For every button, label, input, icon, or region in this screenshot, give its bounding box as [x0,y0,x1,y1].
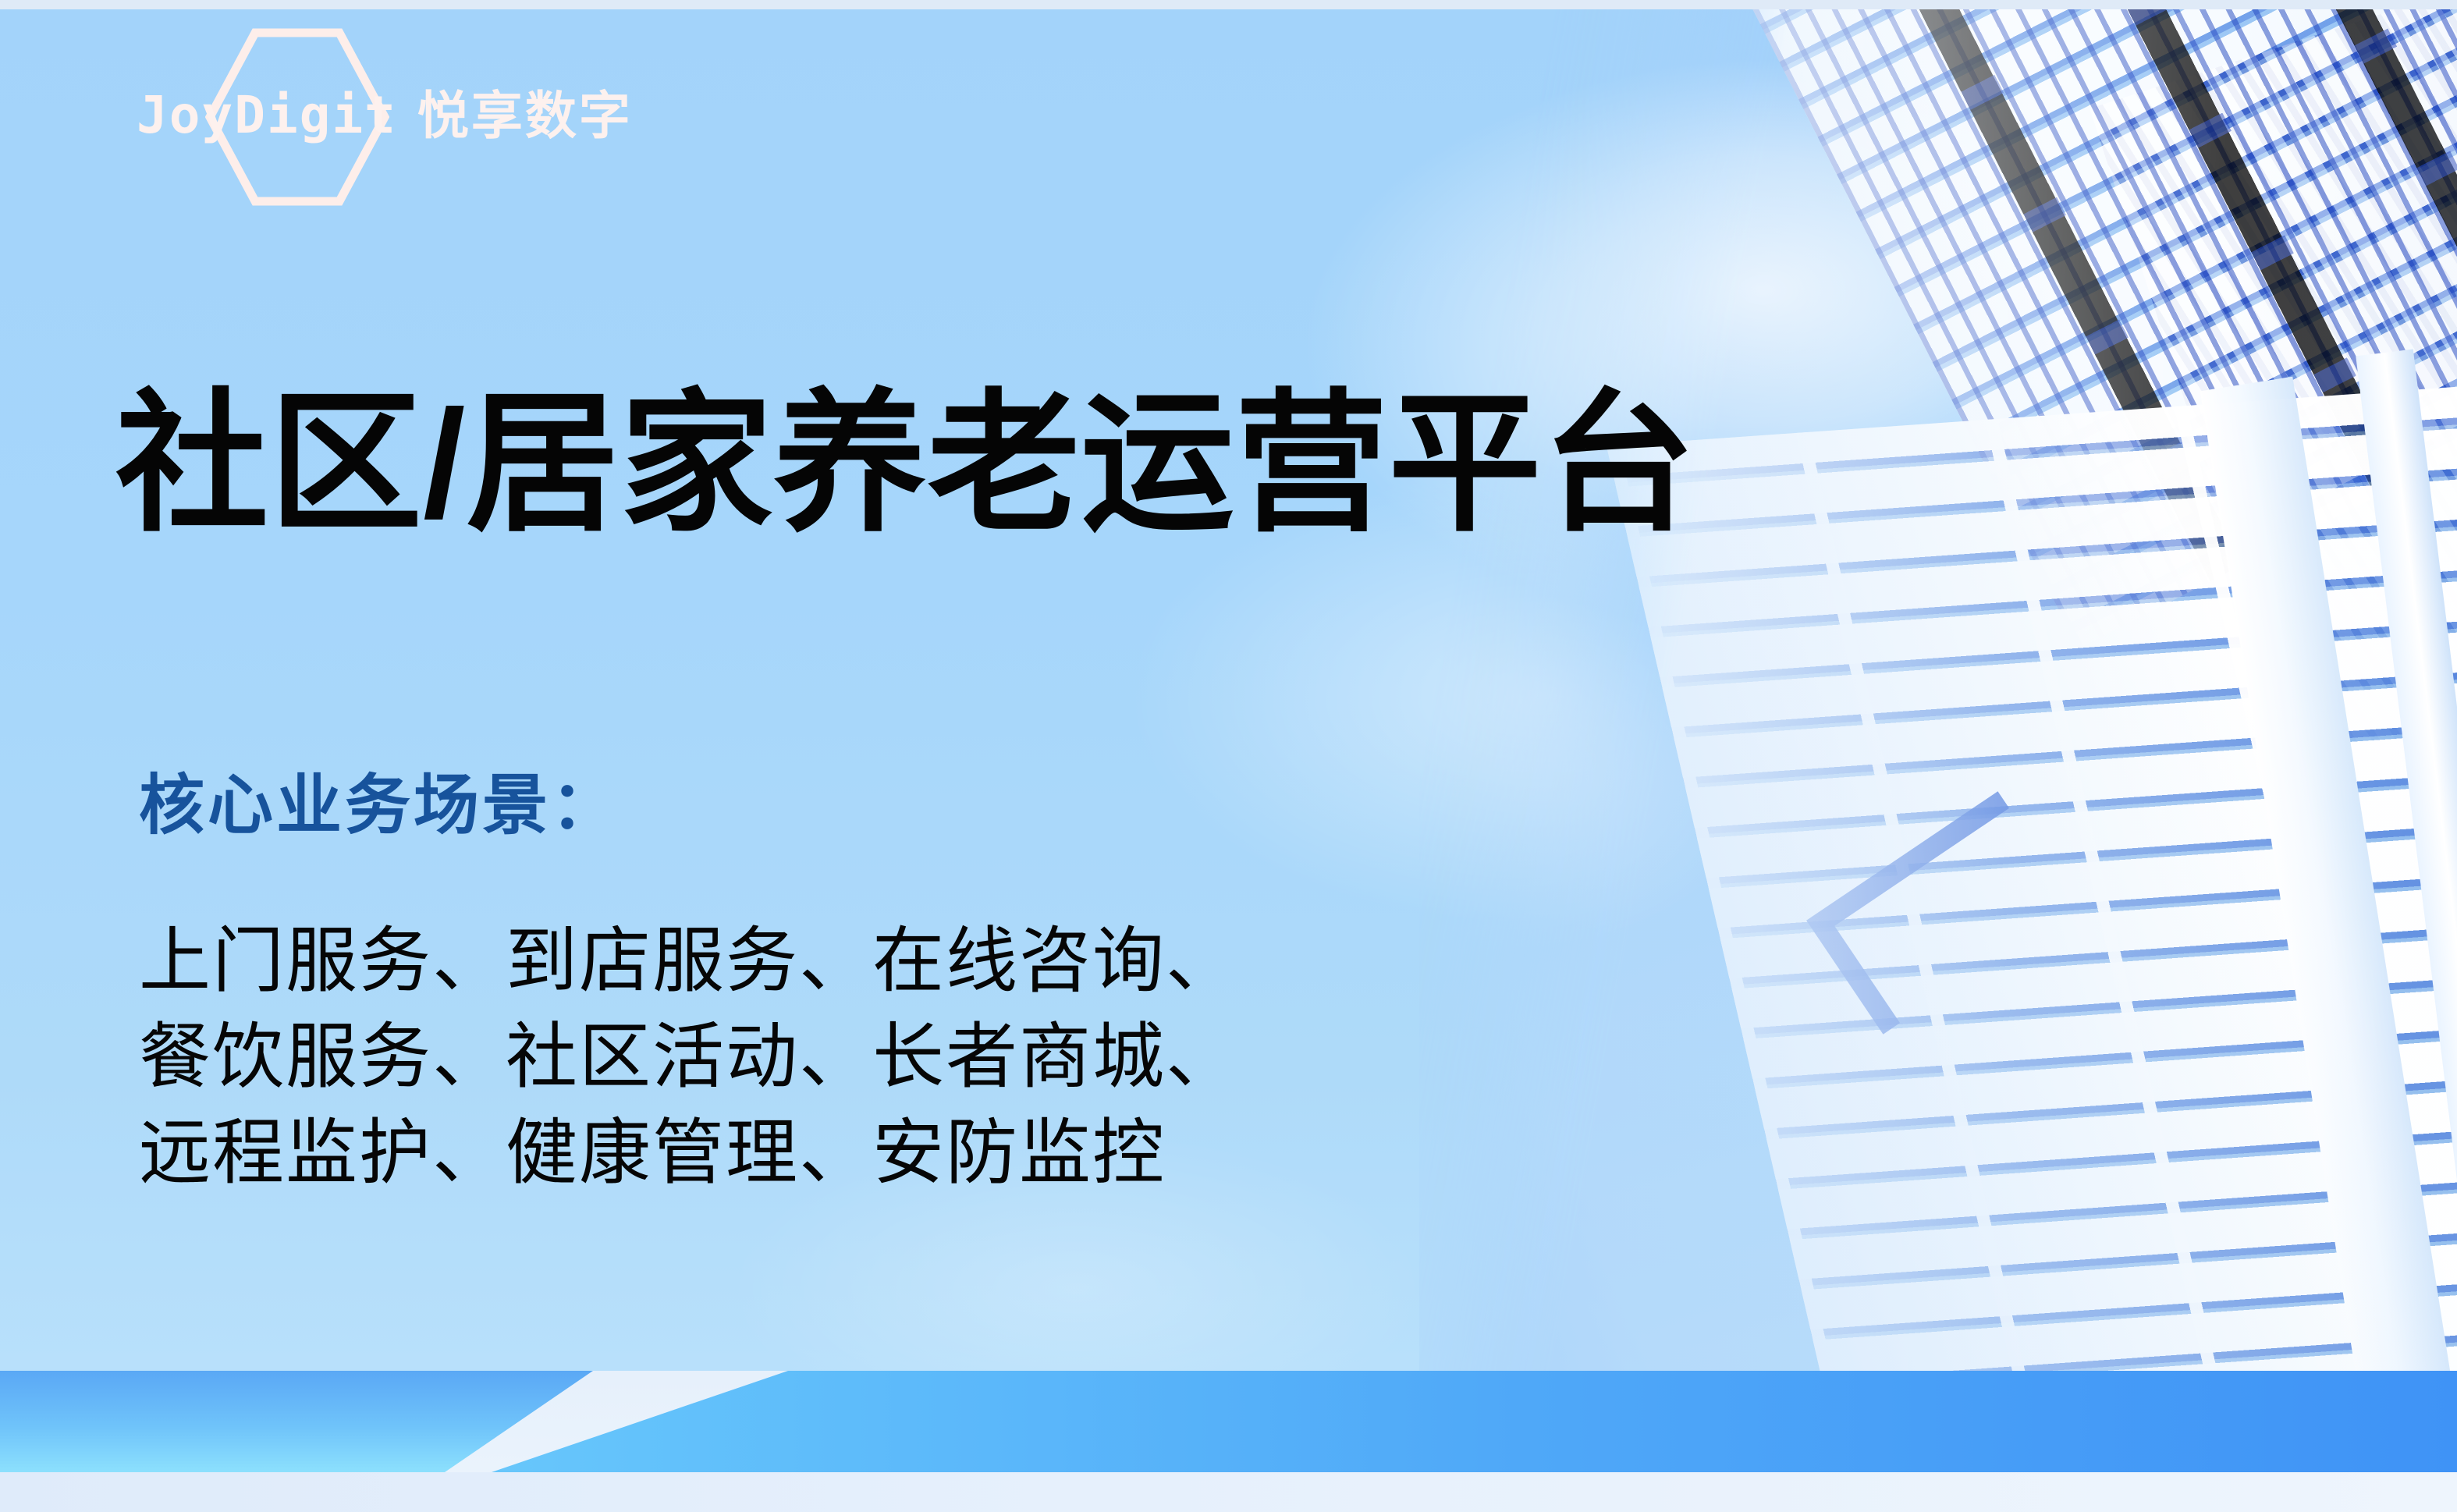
scenario-line-2: 餐饮服务、社区活动、长者商城、 [139,1010,1239,1106]
page-title: 社区/居家养老运营平台 [115,374,1695,554]
top-edge-strip [0,0,2457,9]
logo-wordmark-en: JoyDigit [137,90,397,141]
brand-logo: JoyDigit 悦享数字 [137,76,633,154]
skyscraper-photo [1419,9,2457,1371]
logo-wordmark-cn: 悦享数字 [417,90,633,141]
band-bottom-strip [0,1472,2457,1512]
photo-blend-wash [1419,9,2457,1371]
scenarios-section-title: 核心业务场景： [139,766,1239,845]
slide-root: JoyDigit 悦享数字 社区/居家养老运营平台 核心业务场景： 上门服务、到… [0,0,2457,1512]
core-scenarios-block: 核心业务场景： 上门服务、到店服务、在线咨询、 餐饮服务、社区活动、长者商城、 … [139,766,1239,1202]
bottom-decor-band [0,1371,2457,1512]
scenario-line-1: 上门服务、到店服务、在线咨询、 [139,914,1239,1010]
scenario-line-3: 远程监护、健康管理、安防监控 [139,1106,1239,1201]
